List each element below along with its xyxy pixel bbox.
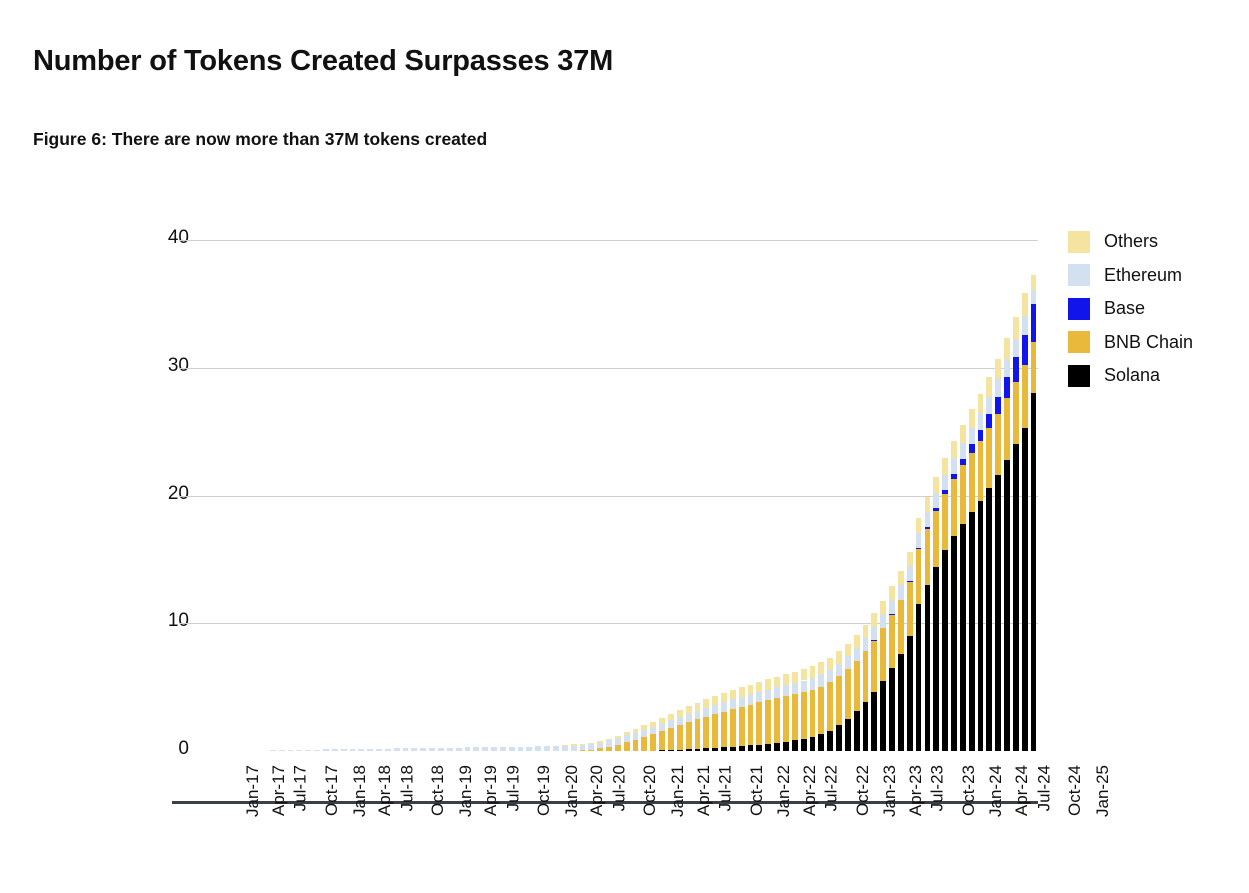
- bar-segment-others: [986, 377, 992, 397]
- bar: [668, 714, 674, 751]
- bar: [721, 693, 727, 751]
- legend-item-others[interactable]: Others: [1068, 225, 1248, 259]
- bar-segment-solana: [730, 747, 736, 751]
- x-axis-tick-label: Oct-17: [322, 765, 342, 816]
- bar: [615, 736, 621, 751]
- bar-segment-bnb-chain: [995, 414, 1001, 475]
- bar-segment-ethereum: [695, 711, 701, 720]
- bar-segment-ethereum: [703, 708, 709, 717]
- bar: [836, 651, 842, 751]
- legend-item-ethereum[interactable]: Ethereum: [1068, 259, 1248, 293]
- bar: [296, 750, 302, 751]
- bar-segment-base: [978, 430, 984, 441]
- bar: [880, 601, 886, 751]
- legend-item-label: Solana: [1104, 365, 1160, 386]
- bar-segment-solana: [907, 636, 913, 751]
- bar-segment-others: [818, 662, 824, 674]
- bar-segment-ethereum: [1013, 339, 1019, 357]
- bar-segment-solana: [810, 737, 816, 751]
- bar: [942, 458, 948, 751]
- bar-segment-bnb-chain: [960, 465, 966, 523]
- bar-series-group: [180, 240, 1038, 751]
- bar-segment-bnb-chain: [854, 661, 860, 711]
- x-axis-tick-label: Jul-19: [503, 765, 523, 811]
- bar: [358, 749, 364, 751]
- bar: [1031, 275, 1037, 752]
- bar-segment-bnb-chain: [969, 453, 975, 512]
- bar-segment-ethereum: [889, 600, 895, 614]
- bar: [986, 377, 992, 751]
- bar-segment-base: [986, 414, 992, 428]
- bar-segment-ethereum: [854, 648, 860, 661]
- bar-segment-base: [1031, 304, 1037, 342]
- x-axis-tick-label: Oct-19: [534, 765, 554, 816]
- bar-segment-ethereum: [473, 747, 479, 751]
- bar-segment-others: [615, 736, 621, 739]
- bar-segment-bnb-chain: [659, 731, 665, 750]
- bar-segment-solana: [845, 719, 851, 751]
- x-axis-tick-label: Jul-18: [397, 765, 417, 811]
- bar: [288, 750, 294, 751]
- bar: [730, 690, 736, 751]
- bar-segment-bnb-chain: [871, 641, 877, 693]
- bar: [544, 746, 550, 751]
- bar: [703, 699, 709, 751]
- chart-legend: OthersEthereumBaseBNB ChainSolana: [1068, 225, 1248, 393]
- bar-segment-ethereum: [332, 749, 338, 751]
- bar-segment-base: [995, 397, 1001, 415]
- bar: [279, 751, 285, 752]
- bar-segment-bnb-chain: [748, 705, 754, 746]
- plot-area: [180, 240, 1038, 751]
- bar-segment-solana: [960, 524, 966, 751]
- bar-segment-ethereum: [341, 749, 347, 751]
- bar-segment-ethereum: [818, 674, 824, 686]
- bar-segment-others: [730, 690, 736, 699]
- bar-segment-solana: [836, 725, 842, 751]
- bar-segment-solana: [1022, 428, 1028, 751]
- bar-segment-others: [1013, 317, 1019, 339]
- bar-segment-others: [801, 669, 807, 680]
- bar-segment-bnb-chain: [774, 698, 780, 743]
- bar: [845, 644, 851, 751]
- bar-segment-ethereum: [323, 749, 329, 751]
- bar: [916, 518, 922, 751]
- bar-segment-ethereum: [986, 397, 992, 414]
- bar-segment-ethereum: [995, 379, 1001, 396]
- bar-segment-bnb-chain: [845, 669, 851, 719]
- bar-segment-bnb-chain: [818, 687, 824, 735]
- bar: [1004, 338, 1010, 751]
- x-axis-tick-label: Apr-22: [800, 765, 820, 816]
- bar-segment-ethereum: [712, 705, 718, 714]
- bar-segment-others: [1004, 338, 1010, 359]
- x-axis-tick-label: Jan-21: [668, 765, 688, 817]
- bar-segment-bnb-chain: [650, 734, 656, 751]
- bar-segment-solana: [739, 746, 745, 751]
- bar-segment-ethereum: [411, 748, 417, 751]
- bar-segment-base: [942, 490, 948, 493]
- bar-segment-solana: [863, 702, 869, 751]
- bar-segment-ethereum: [350, 749, 356, 751]
- bar-segment-solana: [712, 748, 718, 751]
- bar-segment-bnb-chain: [827, 682, 833, 731]
- bar-segment-ethereum: [925, 512, 931, 527]
- chart-container: No. of Tokens (Cumulative, M) 010203040 …: [0, 190, 1249, 890]
- bar-segment-ethereum: [916, 533, 922, 548]
- bar-segment-base: [969, 444, 975, 453]
- bar: [562, 746, 568, 751]
- bar: [447, 748, 453, 751]
- bar-segment-bnb-chain: [624, 742, 630, 751]
- bar: [518, 747, 524, 751]
- bar: [597, 741, 603, 751]
- bar: [810, 666, 816, 751]
- bar: [376, 749, 382, 751]
- bar-segment-ethereum: [438, 748, 444, 751]
- bar: [473, 747, 479, 751]
- bar-segment-others: [562, 745, 568, 746]
- bar-segment-ethereum: [978, 413, 984, 430]
- bar-segment-ethereum: [863, 638, 869, 652]
- bar-segment-others: [925, 497, 931, 512]
- bar-segment-bnb-chain: [1013, 382, 1019, 444]
- legend-item-bnb-chain[interactable]: BNB Chain: [1068, 326, 1248, 360]
- bar-segment-others: [686, 706, 692, 714]
- bar-segment-bnb-chain: [933, 511, 939, 567]
- bar-segment-others: [933, 477, 939, 493]
- bar: [571, 745, 577, 751]
- bar-segment-others: [1022, 293, 1028, 316]
- legend-swatch-icon: [1068, 365, 1090, 387]
- bar-segment-bnb-chain: [1022, 365, 1028, 428]
- bar-segment-ethereum: [792, 683, 798, 694]
- x-axis-tick-label: Apr-24: [1012, 765, 1032, 816]
- bar-segment-ethereum: [659, 724, 665, 732]
- bar-segment-others: [880, 601, 886, 615]
- bar-segment-bnb-chain: [686, 722, 692, 749]
- bar-segment-ethereum: [571, 746, 577, 751]
- legend-item-solana[interactable]: Solana: [1068, 359, 1248, 393]
- bar-segment-solana: [951, 536, 957, 751]
- legend-item-label: BNB Chain: [1104, 332, 1193, 353]
- bar-segment-ethereum: [606, 740, 612, 746]
- bar: [553, 746, 559, 751]
- legend-swatch-icon: [1068, 231, 1090, 253]
- bar-segment-ethereum: [942, 475, 948, 491]
- x-axis-tick-label: Jul-21: [715, 765, 735, 811]
- bar-segment-others: [951, 441, 957, 458]
- bar-segment-bnb-chain: [606, 747, 612, 751]
- bar-segment-ethereum: [1031, 290, 1037, 304]
- bar-segment-bnb-chain: [1031, 342, 1037, 393]
- x-axis-tick-label: Apr-20: [587, 765, 607, 816]
- bar-segment-bnb-chain: [668, 728, 674, 750]
- bar-segment-others: [978, 394, 984, 413]
- bar-segment-ethereum: [960, 443, 966, 459]
- bar: [756, 682, 762, 751]
- bar: [606, 738, 612, 751]
- bar-segment-others: [871, 613, 877, 626]
- bar: [659, 718, 665, 751]
- bar-segment-others: [969, 409, 975, 428]
- legend-item-base[interactable]: Base: [1068, 292, 1248, 326]
- bar: [420, 748, 426, 751]
- bar-segment-solana: [792, 740, 798, 751]
- bar-segment-ethereum: [296, 750, 302, 751]
- bar-segment-bnb-chain: [951, 479, 957, 536]
- bar: [774, 677, 780, 751]
- bar-segment-ethereum: [774, 687, 780, 698]
- bar: [438, 748, 444, 751]
- x-axis-tick-label: Jul-24: [1034, 765, 1054, 811]
- bar: [323, 749, 329, 751]
- bar-segment-others: [624, 732, 630, 735]
- bar: [969, 409, 975, 751]
- x-axis-tick-label: Jan-22: [774, 765, 794, 817]
- bar: [535, 746, 541, 751]
- bar-segment-ethereum: [836, 664, 842, 677]
- bar-segment-bnb-chain: [863, 651, 869, 702]
- bar-segment-others: [863, 625, 869, 638]
- bar-segment-others: [898, 571, 904, 585]
- x-axis-tick-label: Oct-18: [428, 765, 448, 816]
- bar-segment-ethereum: [553, 746, 559, 751]
- bar: [341, 749, 347, 751]
- bar-segment-others: [588, 743, 594, 744]
- bar-segment-others: [748, 685, 754, 695]
- bar-segment-ethereum: [544, 746, 550, 751]
- bar-segment-ethereum: [730, 699, 736, 709]
- bar-segment-ethereum: [270, 750, 276, 751]
- bar-segment-others: [721, 693, 727, 702]
- bar-segment-bnb-chain: [712, 714, 718, 748]
- bar-segment-ethereum: [801, 681, 807, 693]
- bar: [889, 586, 895, 751]
- x-axis-tick-label: Oct-22: [853, 765, 873, 816]
- bar-segment-others: [571, 744, 577, 745]
- x-axis-tick-label: Apr-19: [481, 765, 501, 816]
- bar-segment-solana: [854, 711, 860, 751]
- bar-segment-solana: [783, 742, 789, 751]
- bar-segment-solana: [668, 750, 674, 751]
- bar-segment-ethereum: [580, 745, 586, 750]
- bar-segment-bnb-chain: [889, 615, 895, 668]
- bar: [739, 687, 745, 751]
- bar-segment-others: [774, 677, 780, 687]
- bar-segment-ethereum: [748, 694, 754, 704]
- bar-segment-others: [792, 672, 798, 683]
- bar-segment-solana: [765, 744, 771, 751]
- x-axis-tick-label: Oct-21: [747, 765, 767, 816]
- x-axis-tick-label: Jan-20: [562, 765, 582, 817]
- bar-segment-bnb-chain: [730, 709, 736, 747]
- bar-segment-solana: [1031, 393, 1037, 751]
- bar-segment-others: [907, 552, 913, 566]
- bar-segment-bnb-chain: [986, 428, 992, 488]
- bar: [624, 732, 630, 751]
- bar-segment-ethereum: [756, 692, 762, 702]
- bar-segment-solana: [703, 748, 709, 751]
- bar-segment-ethereum: [526, 747, 532, 751]
- bar-segment-bnb-chain: [765, 700, 771, 743]
- x-axis-tick-label: Jan-25: [1093, 765, 1113, 817]
- bar-segment-ethereum: [305, 750, 311, 751]
- bar-segment-others: [659, 718, 665, 724]
- bar-segment-bnb-chain: [801, 692, 807, 739]
- bar: [933, 477, 939, 751]
- bar-segment-ethereum: [668, 720, 674, 728]
- bar: [792, 672, 798, 751]
- bar: [482, 747, 488, 751]
- bar-segment-others: [756, 682, 762, 692]
- bar-segment-solana: [916, 604, 922, 751]
- bar-segment-ethereum: [314, 750, 320, 751]
- bar-segment-ethereum: [358, 749, 364, 751]
- legend-swatch-icon: [1068, 298, 1090, 320]
- x-axis-tick-label: Jul-20: [609, 765, 629, 811]
- bar: [429, 748, 435, 751]
- bar: [350, 749, 356, 751]
- bar: [978, 394, 984, 751]
- bar-segment-solana: [686, 749, 692, 751]
- bar-segment-others: [916, 518, 922, 533]
- bar-segment-bnb-chain: [597, 748, 603, 751]
- bar-segment-bnb-chain: [703, 717, 709, 749]
- bar-segment-solana: [933, 567, 939, 751]
- bar-segment-ethereum: [951, 458, 957, 474]
- bar-segment-ethereum: [650, 727, 656, 734]
- bar-segment-ethereum: [907, 566, 913, 581]
- bar: [854, 635, 860, 751]
- bar-segment-base: [907, 581, 913, 582]
- bar-segment-solana: [1004, 460, 1010, 751]
- bar: [491, 747, 497, 751]
- bar-segment-ethereum: [562, 746, 568, 751]
- bar-segment-others: [633, 729, 639, 733]
- figure-subtitle: Figure 6: There are now more than 37M to…: [33, 129, 487, 150]
- bar-segment-ethereum: [456, 748, 462, 751]
- bar-segment-others: [703, 699, 709, 707]
- bar-segment-bnb-chain: [907, 582, 913, 636]
- bar-segment-ethereum: [588, 744, 594, 750]
- bar-segment-bnb-chain: [925, 529, 931, 585]
- bar-segment-ethereum: [500, 747, 506, 751]
- bar-segment-others: [580, 744, 586, 745]
- bar-segment-others: [641, 725, 647, 729]
- bar-segment-ethereum: [933, 493, 939, 509]
- bar-segment-ethereum: [898, 585, 904, 600]
- bar: [951, 441, 957, 751]
- x-axis-tick-label: Apr-21: [694, 765, 714, 816]
- bar-segment-bnb-chain: [898, 600, 904, 654]
- bar-segment-solana: [880, 681, 886, 751]
- bar-segment-base: [1013, 357, 1019, 383]
- bar-segment-ethereum: [429, 748, 435, 751]
- bar: [500, 747, 506, 751]
- bar-segment-others: [960, 425, 966, 443]
- bar-segment-solana: [898, 654, 904, 751]
- page-title: Number of Tokens Created Surpasses 37M: [33, 45, 613, 78]
- bar-segment-bnb-chain: [942, 494, 948, 551]
- bar-segment-bnb-chain: [588, 750, 594, 751]
- bar: [1013, 317, 1019, 751]
- bar: [305, 750, 311, 751]
- bar-segment-others: [677, 710, 683, 717]
- bar-segment-solana: [995, 475, 1001, 751]
- bar-segment-bnb-chain: [916, 549, 922, 604]
- legend-item-label: Ethereum: [1104, 265, 1182, 286]
- bar: [907, 552, 913, 751]
- x-axis-tick-label: Oct-24: [1065, 765, 1085, 816]
- bar: [526, 747, 532, 751]
- bar: [995, 359, 1001, 751]
- bar-segment-ethereum: [597, 743, 603, 749]
- bar-segment-ethereum: [783, 685, 789, 696]
- bar: [783, 674, 789, 751]
- bar-segment-base: [1004, 377, 1010, 399]
- bar-segment-solana: [774, 743, 780, 751]
- bar: [650, 722, 656, 751]
- bar-segment-others: [650, 722, 656, 727]
- bar-segment-solana: [942, 550, 948, 751]
- bar: [411, 748, 417, 751]
- bar: [465, 747, 471, 751]
- bar-segment-ethereum: [279, 750, 285, 751]
- bar: [456, 748, 462, 751]
- bar-segment-others: [810, 666, 816, 677]
- bar-segment-others: [606, 739, 612, 741]
- bar-segment-bnb-chain: [677, 725, 683, 749]
- bar-segment-others: [712, 696, 718, 705]
- bar-segment-ethereum: [827, 670, 833, 683]
- bar-segment-ethereum: [624, 735, 630, 742]
- bar-segment-base: [1022, 335, 1028, 366]
- bar-segment-ethereum: [518, 747, 524, 751]
- bar-segment-ethereum: [491, 747, 497, 751]
- bar-segment-ethereum: [376, 749, 382, 751]
- bar-segment-base: [916, 548, 922, 549]
- bar: [801, 669, 807, 751]
- bar: [314, 750, 320, 751]
- bar: [818, 662, 824, 751]
- bar-segment-ethereum: [403, 748, 409, 751]
- bar-segment-solana: [969, 512, 975, 751]
- bar-segment-solana: [801, 739, 807, 751]
- bar-segment-ethereum: [721, 702, 727, 711]
- legend-item-label: Base: [1104, 298, 1145, 319]
- bar: [686, 706, 692, 751]
- bar: [332, 749, 338, 751]
- bar-segment-base: [925, 527, 931, 529]
- bar-segment-ethereum: [845, 656, 851, 669]
- bar-segment-ethereum: [288, 750, 294, 751]
- bar-segment-others: [597, 741, 603, 742]
- bar-segment-bnb-chain: [695, 719, 701, 748]
- bar-segment-ethereum: [633, 733, 639, 740]
- bar-segment-ethereum: [367, 749, 373, 751]
- bar: [695, 703, 701, 751]
- bar-segment-ethereum: [880, 614, 886, 628]
- x-axis-tick-label: Jan-24: [986, 765, 1006, 817]
- bar: [712, 696, 718, 751]
- bar-segment-bnb-chain: [978, 441, 984, 500]
- x-axis-tick-label: Jul-22: [822, 765, 842, 811]
- bar-segment-bnb-chain: [615, 745, 621, 751]
- x-axis-tick-label: Jan-19: [456, 765, 476, 817]
- x-axis-tick-label: Jan-17: [243, 765, 263, 817]
- bar: [509, 747, 515, 751]
